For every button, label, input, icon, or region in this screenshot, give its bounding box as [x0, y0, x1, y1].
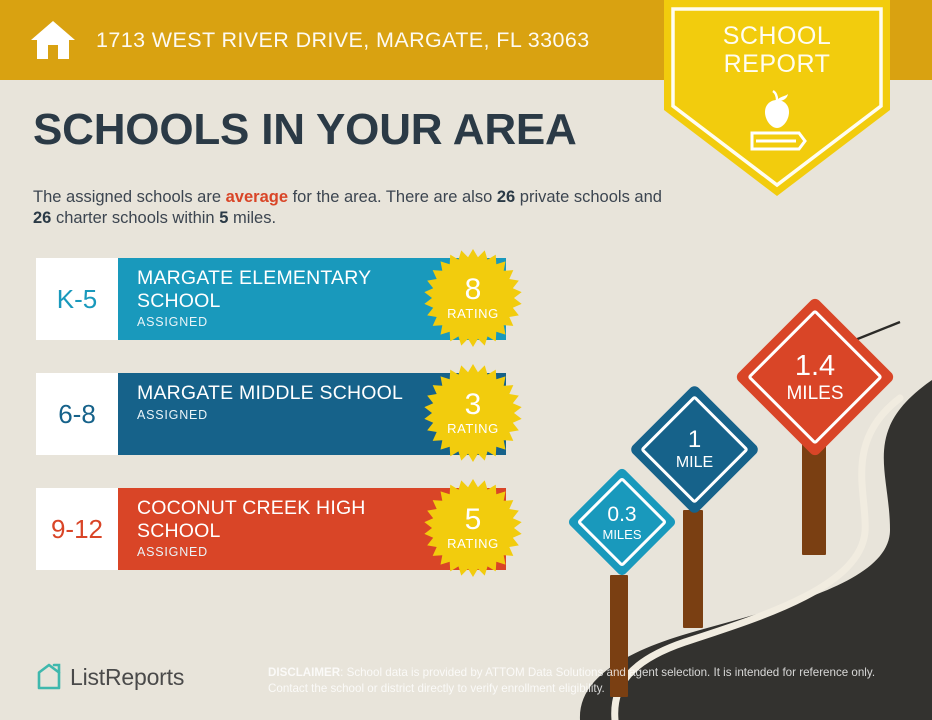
- rating-value: 8: [465, 275, 482, 305]
- property-address: 1713 WEST RIVER DRIVE, MARGATE, FL 33063: [96, 28, 590, 53]
- grade-range: K-5: [57, 284, 97, 315]
- infographic-canvas: 1713 WEST RIVER DRIVE, MARGATE, FL 33063…: [0, 0, 932, 720]
- charter-school-count: 26: [33, 209, 51, 227]
- summary-part-4: charter schools within: [51, 209, 219, 227]
- rating-value: 3: [465, 390, 482, 420]
- rating-label: 5 RATING: [424, 479, 522, 577]
- disclaimer-label: DISCLAIMER: [268, 666, 340, 679]
- rating-label: 8 RATING: [424, 249, 522, 347]
- grade-range-box: 6-8: [36, 373, 118, 455]
- school-name: MARGATE ELEMENTARY SCHOOL: [137, 267, 405, 312]
- listreports-wordmark: ListReports: [70, 664, 184, 691]
- listreports-house-icon-svg: [36, 663, 62, 691]
- private-school-count: 26: [497, 188, 515, 206]
- summary-part-3: private schools and: [515, 188, 662, 206]
- summary-part-5: miles.: [228, 209, 276, 227]
- distance-illustration: 1.4 MILES 1 MILE 0.3 MILES: [560, 280, 932, 720]
- rating-caption: RATING: [447, 536, 499, 551]
- rating-value: 5: [465, 505, 482, 535]
- school-list: K-5 MARGATE ELEMENTARY SCHOOL ASSIGNED 8…: [36, 258, 506, 603]
- grade-range: 9-12: [51, 514, 103, 545]
- summary-part-2: for the area. There are also: [288, 188, 497, 206]
- grade-range-box: 9-12: [36, 488, 118, 570]
- school-report-badge: SCHOOL REPORT: [664, 0, 890, 196]
- sign-post: [683, 510, 703, 628]
- school-row[interactable]: 9-12 COCONUT CREEK HIGH SCHOOL ASSIGNED …: [36, 488, 506, 570]
- sign-inner-border: [577, 477, 668, 568]
- summary-part-1: The assigned schools are: [33, 188, 226, 206]
- badge-text: SCHOOL REPORT: [664, 22, 890, 78]
- school-row[interactable]: K-5 MARGATE ELEMENTARY SCHOOL ASSIGNED 8…: [36, 258, 506, 340]
- page-title: SCHOOLS IN YOUR AREA: [33, 105, 577, 155]
- badge-line-1: SCHOOL: [664, 22, 890, 50]
- grade-range: 6-8: [58, 399, 96, 430]
- search-radius: 5: [219, 209, 228, 227]
- disclaimer-text: : School data is provided by ATTOM Data …: [268, 666, 875, 695]
- summary-text: The assigned schools are average for the…: [33, 187, 663, 229]
- rating-caption: RATING: [447, 306, 499, 321]
- grade-range-box: K-5: [36, 258, 118, 340]
- house-icon-svg: [30, 19, 76, 61]
- sign-face: [567, 467, 677, 577]
- rating-badge: 3 RATING: [424, 364, 522, 462]
- rating-badge: 8 RATING: [424, 249, 522, 347]
- rating-word: average: [226, 188, 288, 206]
- school-name: COCONUT CREEK HIGH SCHOOL: [137, 497, 405, 542]
- listreports-house-icon: [36, 663, 62, 691]
- badge-line-2: REPORT: [664, 50, 890, 78]
- school-row[interactable]: 6-8 MARGATE MIDDLE SCHOOL ASSIGNED 3 RAT…: [36, 373, 506, 455]
- listreports-logo[interactable]: ListReports: [36, 663, 184, 691]
- header-content: 1713 WEST RIVER DRIVE, MARGATE, FL 33063: [30, 0, 590, 80]
- rating-badge: 5 RATING: [424, 479, 522, 577]
- rating-caption: RATING: [447, 421, 499, 436]
- disclaimer: DISCLAIMER: School data is provided by A…: [268, 665, 888, 696]
- house-icon: [30, 19, 76, 61]
- rating-label: 3 RATING: [424, 364, 522, 462]
- school-name: MARGATE MIDDLE SCHOOL: [137, 382, 405, 405]
